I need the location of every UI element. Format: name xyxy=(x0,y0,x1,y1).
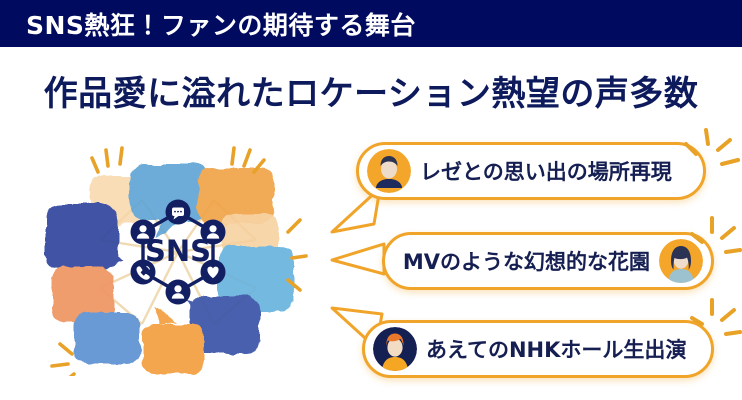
page-title: 作品愛に溢れたロケーション熱望の声多数 xyxy=(0,66,742,115)
quote-bubble-3-text: あえてのNHKホール生出演 xyxy=(426,334,686,364)
quote-bubble-1[interactable]: レゼとの思い出の場所再現 xyxy=(356,142,706,200)
bubble-tail-2 xyxy=(330,240,388,280)
sns-network-graphic: SNS xyxy=(38,128,318,376)
header-bar: SNS熱狂！ファンの期待する舞台 xyxy=(0,0,742,47)
avatar-male-orangehair xyxy=(373,327,417,371)
heart-icon xyxy=(201,260,226,285)
avatar-female-bob xyxy=(659,239,703,283)
person-icon xyxy=(166,280,191,305)
quote-bubble-2-text: MVのような幻想的な花園 xyxy=(403,246,650,276)
sns-center-label: SNS xyxy=(145,234,211,268)
quote-bubble-2[interactable]: MVのような幻想的な花園 xyxy=(382,232,714,290)
phone-icon xyxy=(131,260,156,285)
avatar-male-darkhair xyxy=(367,149,411,193)
chat-bubble-icon xyxy=(166,200,191,225)
quote-bubbles-group: レゼとの思い出の場所再現 MVのような幻想的な花園 xyxy=(330,128,742,390)
person-icon xyxy=(201,220,226,245)
person-icon xyxy=(131,220,156,245)
quote-bubble-3[interactable]: あえてのNHKホール生出演 xyxy=(362,320,714,378)
header-title: SNS熱狂！ファンの期待する舞台 xyxy=(26,6,416,42)
quote-bubble-1-text: レゼとの思い出の場所再現 xyxy=(420,156,672,186)
